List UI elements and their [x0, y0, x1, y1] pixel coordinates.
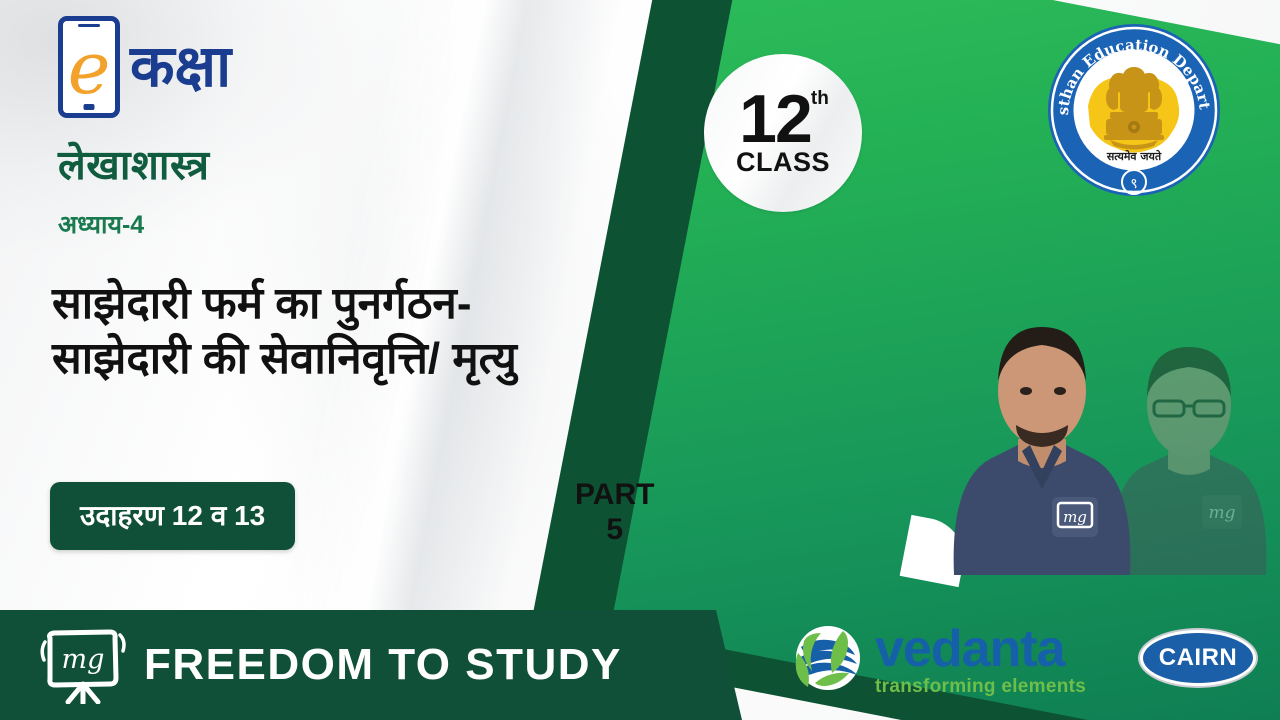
presenter-left-figure: mg: [944, 245, 1140, 575]
thumbnail-canvas: mg mg e कक्षा लेखाशास्: [0, 0, 1280, 720]
svg-text:mg: mg: [1063, 508, 1087, 526]
ashoka-emblem-icon: [1104, 67, 1164, 150]
example-badge: उदाहरण 12 व 13: [50, 482, 295, 550]
rajasthan-education-department-emblem: Rajasthan Education Department सत्यमेव ज…: [1044, 20, 1224, 200]
vedanta-wordmark: vedanta: [875, 625, 1086, 674]
class-badge: 12th CLASS: [704, 54, 862, 212]
footer-band: mg FREEDOM TO STUDY: [0, 610, 742, 720]
footer-tagline: FREEDOM TO STUDY: [144, 640, 622, 690]
sponsor-cairn: CAIRN: [1140, 630, 1256, 686]
smartphone-icon: e: [58, 16, 120, 118]
class-number-wrap: 12th: [739, 88, 827, 151]
part-indicator: PART 5: [575, 478, 654, 548]
logo-letter-e: e: [68, 32, 111, 104]
vedanta-globe-icon: [795, 625, 861, 691]
part-number: 5: [575, 513, 654, 548]
svg-text:mg: mg: [1208, 503, 1235, 523]
class-number-suffix: th: [811, 90, 829, 107]
class-number: 12: [739, 81, 811, 157]
lesson-title-line-2: साझेदारी की सेवानिवृत्ति/ मृत्यु: [52, 331, 852, 386]
lesson-title-line-1: साझेदारी फर्म का पुनर्गठन-: [52, 276, 852, 331]
svg-text:mg: mg: [62, 644, 105, 675]
cairn-wordmark: CAIRN: [1159, 644, 1238, 672]
logo-word: कक्षा: [130, 38, 231, 96]
lesson-title: साझेदारी फर्म का पुनर्गठन- साझेदारी की स…: [52, 276, 852, 387]
ekaksha-logo: e कक्षा: [58, 16, 231, 118]
presenters-photo: mg mg: [930, 230, 1280, 580]
emblem-sub-logo: ९: [1130, 176, 1137, 192]
part-label: PART: [575, 478, 654, 513]
sponsor-vedanta: vedanta transforming elements: [795, 625, 1086, 698]
chapter-label: अध्याय-4: [58, 207, 144, 241]
emblem-motto: सत्यमेव जयते: [1106, 149, 1162, 163]
mg-logo-icon: mg: [40, 626, 126, 704]
presenter-left: mg: [944, 245, 1140, 580]
vedanta-tagline: transforming elements: [875, 676, 1086, 698]
subject-title: लेखाशास्त्र: [58, 136, 210, 192]
